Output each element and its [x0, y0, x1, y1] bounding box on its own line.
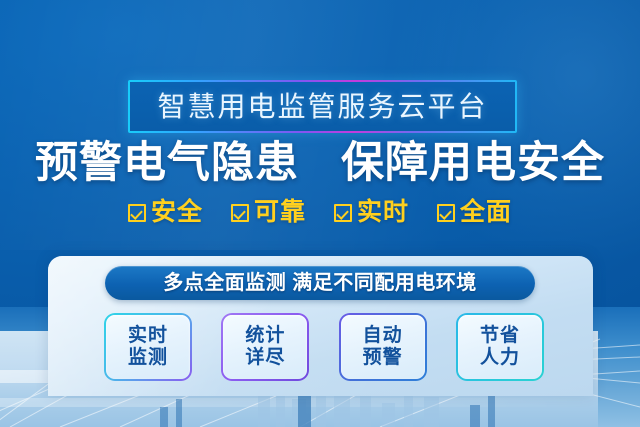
headline: 预警电气隐患 保障用电安全 — [0, 137, 640, 189]
platform-title-chip: 智慧用电监管服务云平台 — [128, 80, 517, 133]
feature-check-item: 可靠 — [231, 200, 306, 225]
feature-card-inner: 自动 预警 — [341, 315, 425, 379]
platform-title-text: 智慧用电监管服务云平台 — [157, 93, 487, 121]
headline-right: 保障用电安全 — [341, 139, 605, 187]
feature-check-label: 安全 — [151, 200, 203, 225]
feature-check-item: 实时 — [334, 200, 409, 225]
feature-check-label: 全面 — [460, 200, 512, 225]
check-square-icon — [231, 204, 249, 222]
feature-card-automatic-alert[interactable]: 自动 预警 — [339, 313, 427, 381]
feature-check-label: 可靠 — [254, 200, 306, 225]
feature-card-line2: 详尽 — [245, 347, 285, 369]
feature-card-line1: 节省 — [480, 325, 520, 347]
check-square-icon — [128, 204, 146, 222]
feature-card-row: 实时 监测 统计 详尽 自动 预警 节省 人力 — [104, 313, 544, 381]
feature-card-inner: 实时 监测 — [106, 315, 190, 379]
feature-card-line1: 自动 — [363, 325, 403, 347]
sub-banner-pill: 多点全面监测 满足不同配用电环境 — [105, 266, 535, 300]
feature-check-item: 全面 — [437, 200, 512, 225]
platform-title-chip-inner: 智慧用电监管服务云平台 — [130, 82, 515, 131]
feature-card-line1: 统计 — [245, 325, 285, 347]
feature-card-save-manpower[interactable]: 节省 人力 — [456, 313, 544, 381]
feature-card-line2: 监测 — [128, 347, 168, 369]
sub-banner-text: 多点全面监测 满足不同配用电环境 — [163, 273, 477, 293]
headline-left: 预警电气隐患 — [35, 139, 299, 187]
feature-card-line1: 实时 — [128, 325, 168, 347]
check-square-icon — [437, 204, 455, 222]
feature-card-realtime-monitoring[interactable]: 实时 监测 — [104, 313, 192, 381]
feature-card-inner: 节省 人力 — [458, 315, 542, 379]
feature-check-label: 实时 — [357, 200, 409, 225]
feature-check-row: 安全 可靠 实时 全面 — [0, 200, 640, 225]
check-square-icon — [334, 204, 352, 222]
feature-card-detailed-statistics[interactable]: 统计 详尽 — [221, 313, 309, 381]
background-band-lower — [0, 398, 598, 407]
feature-check-item: 安全 — [128, 200, 203, 225]
promo-poster: 智慧用电监管服务云平台 预警电气隐患 保障用电安全 安全 可靠 实时 全面 多点… — [0, 0, 640, 427]
feature-card-line2: 人力 — [480, 347, 520, 369]
feature-card-inner: 统计 详尽 — [223, 315, 307, 379]
feature-card-line2: 预警 — [363, 347, 403, 369]
